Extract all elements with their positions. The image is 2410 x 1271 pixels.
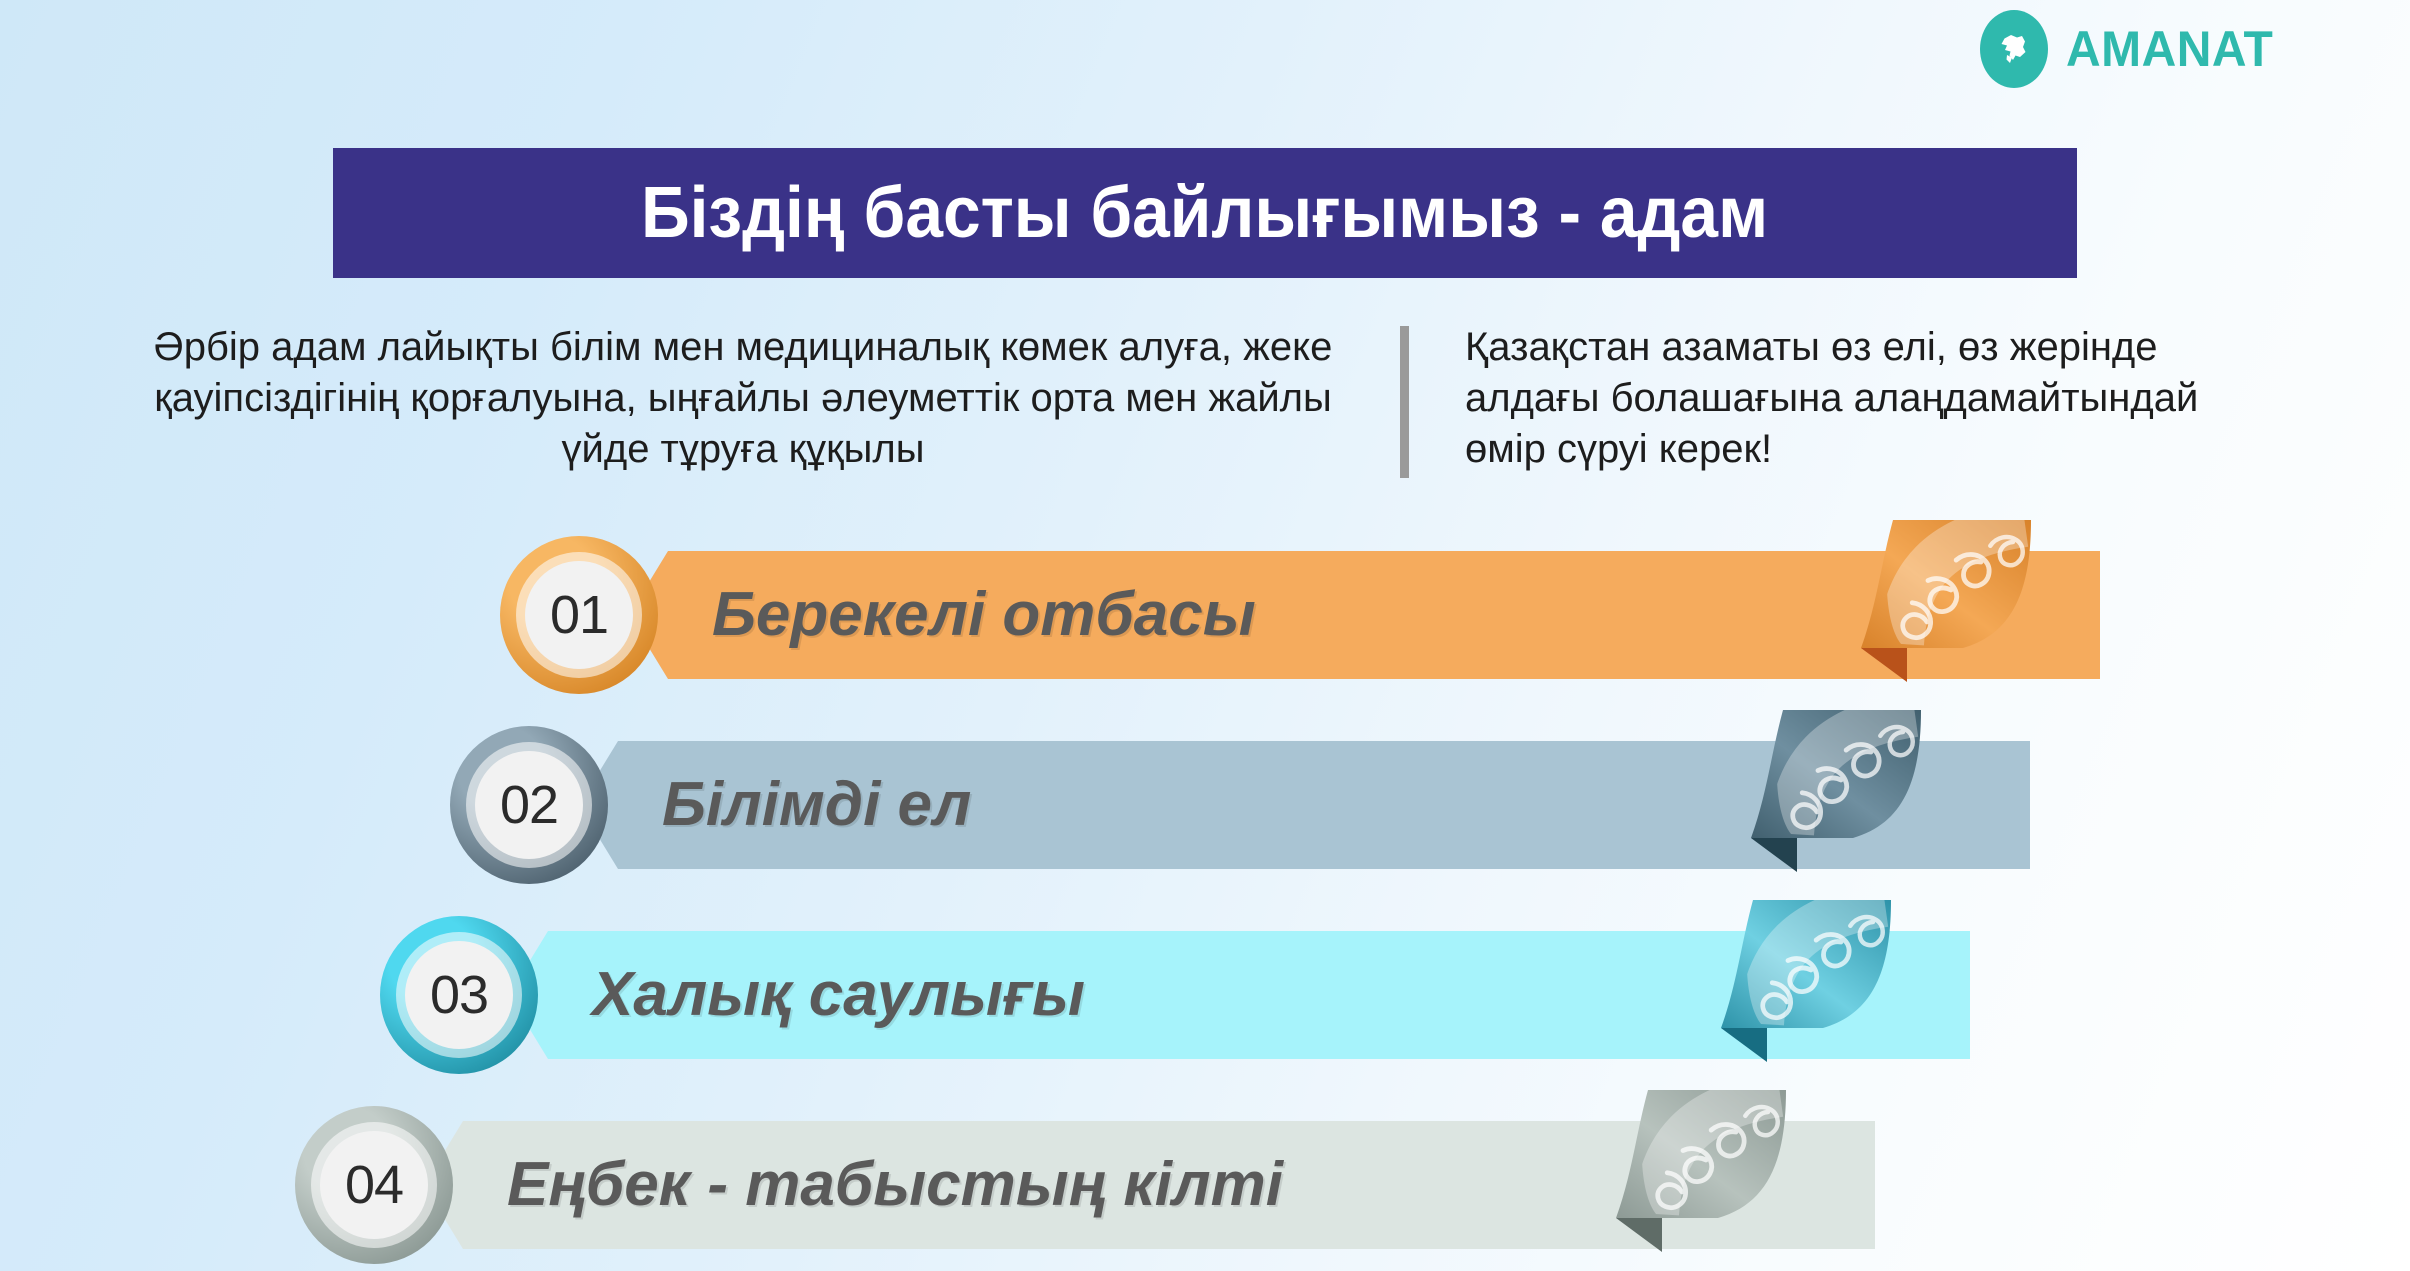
badge-number: 03 [430,968,488,1022]
brand-wordmark: AMANAT [2066,24,2273,74]
priority-row-2[interactable]: 02 Білімді ел [450,710,2030,900]
priority-row-3[interactable]: 03 Халық саулығы [380,900,1970,1090]
ribbon-body: Берекелі отбасы [620,551,2100,679]
ribbon-label: Берекелі отбасы [620,584,1256,646]
badge-inner-circle: 01 [525,561,633,669]
ribbon-2[interactable]: Білімді ел [570,741,2030,869]
badge-number: 04 [345,1158,403,1212]
intro-section: Әрбір адам лайықты білім мен медициналық… [110,322,2290,492]
ribbon-body: Халық саулығы [500,931,1970,1059]
amanat-logo: AMANAT [1980,10,2380,88]
ribbon-1[interactable]: Берекелі отбасы [620,551,2100,679]
ribbon-label: Еңбек - табыстың кілті [415,1154,1283,1216]
badge-number: 01 [550,588,608,642]
ribbon-body: Еңбек - табыстың кілті [415,1121,1875,1249]
infographic-poster: AMANAT Біздің басты байлығымыз - адам Әр… [0,0,2410,1271]
badge-04[interactable]: 04 [295,1106,453,1264]
badge-inner-circle: 03 [405,941,513,1049]
ribbon-3[interactable]: Халық саулығы [500,931,1970,1059]
badge-03[interactable]: 03 [380,916,538,1074]
badge-02[interactable]: 02 [450,726,608,884]
ribbon-label: Білімді ел [570,774,971,836]
badge-number: 02 [500,778,558,832]
ribbon-4[interactable]: Еңбек - табыстың кілті [415,1121,1875,1249]
kazakhstan-map-icon [1980,10,2048,88]
ribbon-label: Халық саулығы [500,964,1085,1026]
priority-row-4[interactable]: 04 Еңбек - табыстың кілті [295,1090,1875,1271]
badge-01[interactable]: 01 [500,536,658,694]
priority-row-1[interactable]: 01 Берекелі отбасы [500,520,2100,710]
intro-left-paragraph: Әрбір адам лайықты білім мен медициналық… [110,322,1400,474]
badge-inner-circle: 02 [475,751,583,859]
badge-inner-circle: 04 [320,1131,428,1239]
column-divider [1400,326,1409,478]
intro-right-paragraph: Қазақстан азаматы өз елі, өз жерінде алд… [1409,322,2290,474]
page-title: Біздің басты байлығымыз - адам [641,177,1768,249]
title-banner: Біздің басты байлығымыз - адам [333,148,2077,278]
ribbon-body: Білімді ел [570,741,2030,869]
